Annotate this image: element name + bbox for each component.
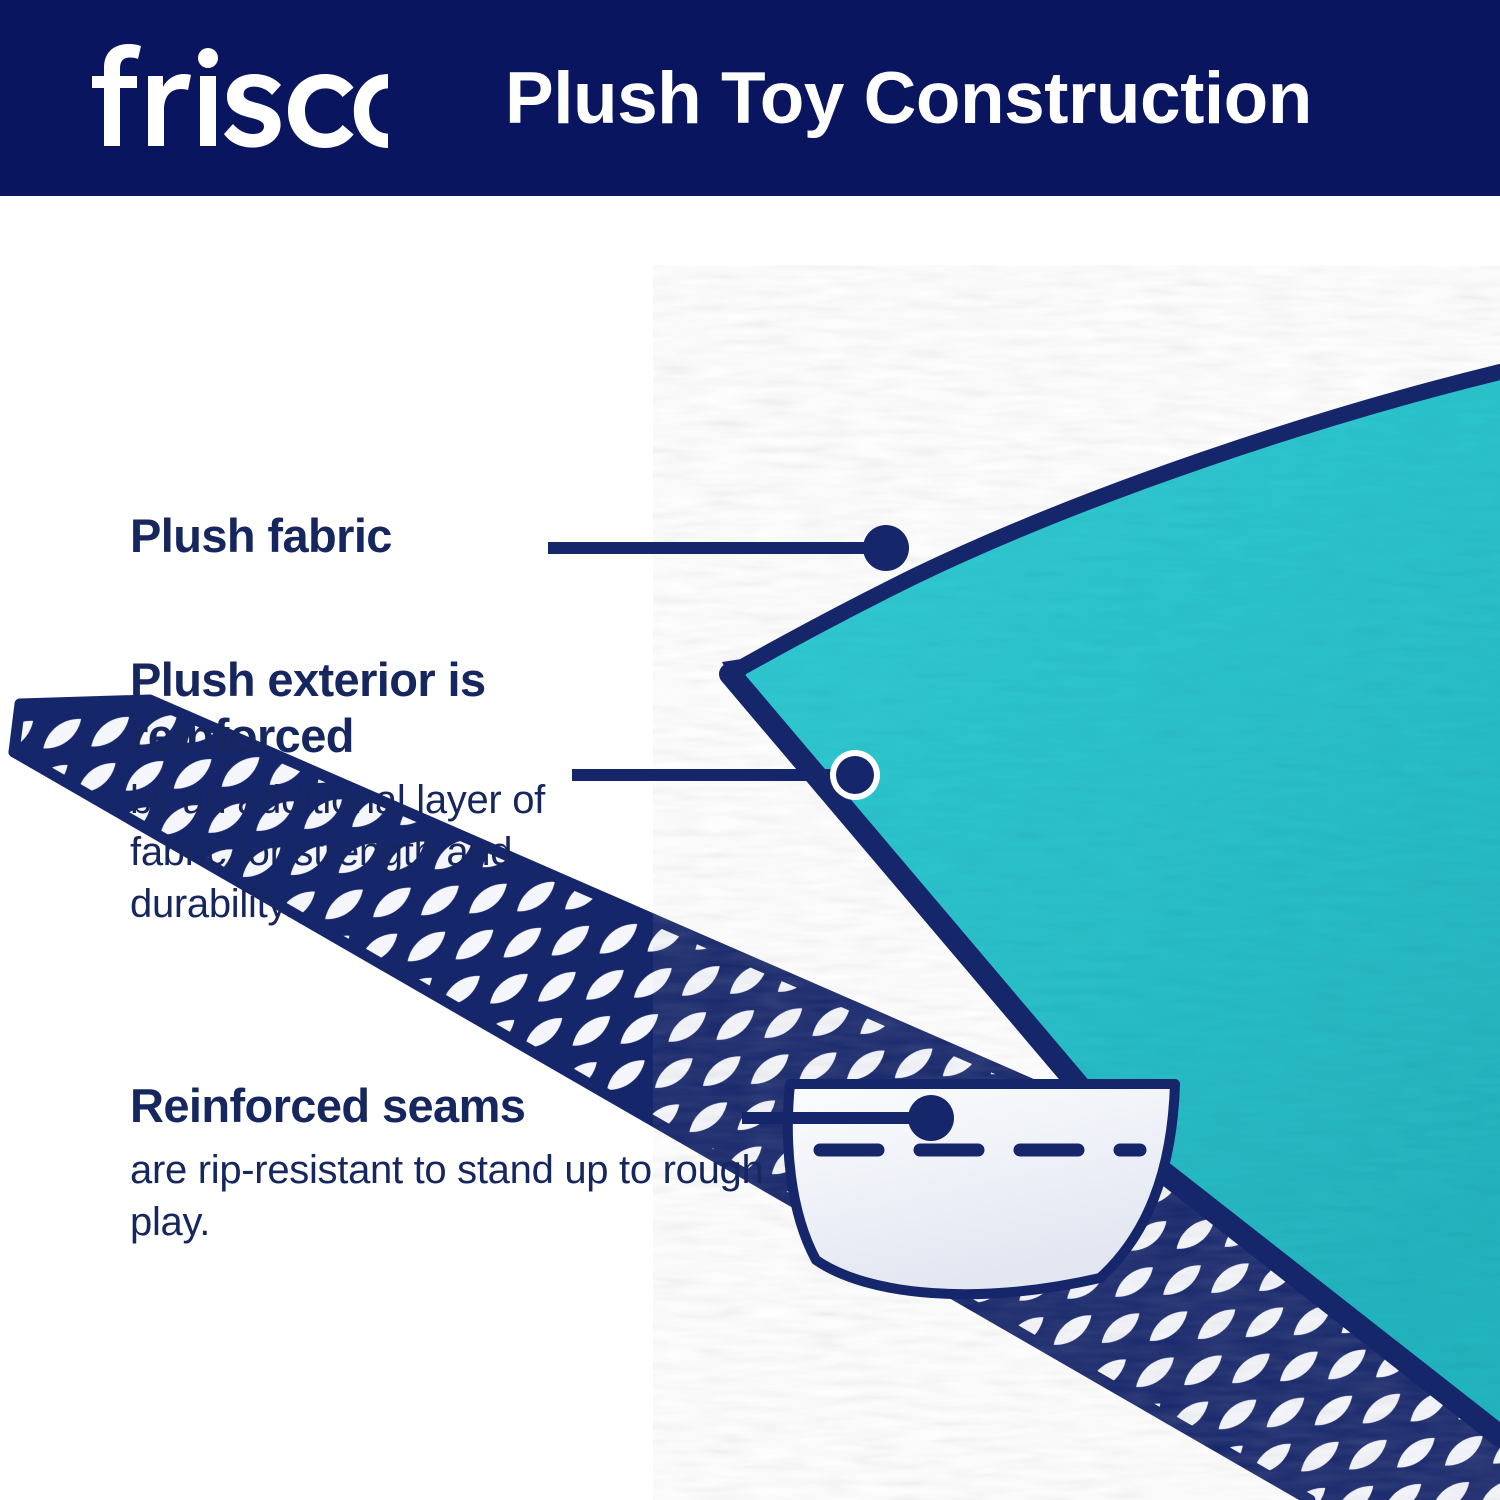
infographic-page: R Plush Toy Construction bbox=[0, 0, 1500, 1500]
label-plush-exterior-body: by an additional layer of fabric for str… bbox=[130, 774, 650, 930]
header-bar: R Plush Toy Construction bbox=[0, 0, 1500, 196]
label-plush-fabric-heading: Plush fabric bbox=[130, 508, 392, 564]
label-plush-fabric: Plush fabric bbox=[130, 508, 392, 564]
leader-plush-fabric bbox=[548, 525, 909, 571]
label-reinforced-seams-heading: Reinforced seams bbox=[130, 1078, 810, 1134]
frisco-logo: R bbox=[88, 42, 388, 152]
label-reinforced-seams: Reinforced seams are rip-resistant to st… bbox=[130, 1078, 810, 1248]
page-title: Plush Toy Construction bbox=[505, 50, 1312, 148]
label-plush-exterior-heading: Plush exterior is reinforced bbox=[130, 652, 650, 764]
label-reinforced-seams-body: are rip-resistant to stand up to rough p… bbox=[130, 1144, 810, 1248]
label-plush-exterior: Plush exterior is reinforced by an addit… bbox=[130, 652, 650, 930]
